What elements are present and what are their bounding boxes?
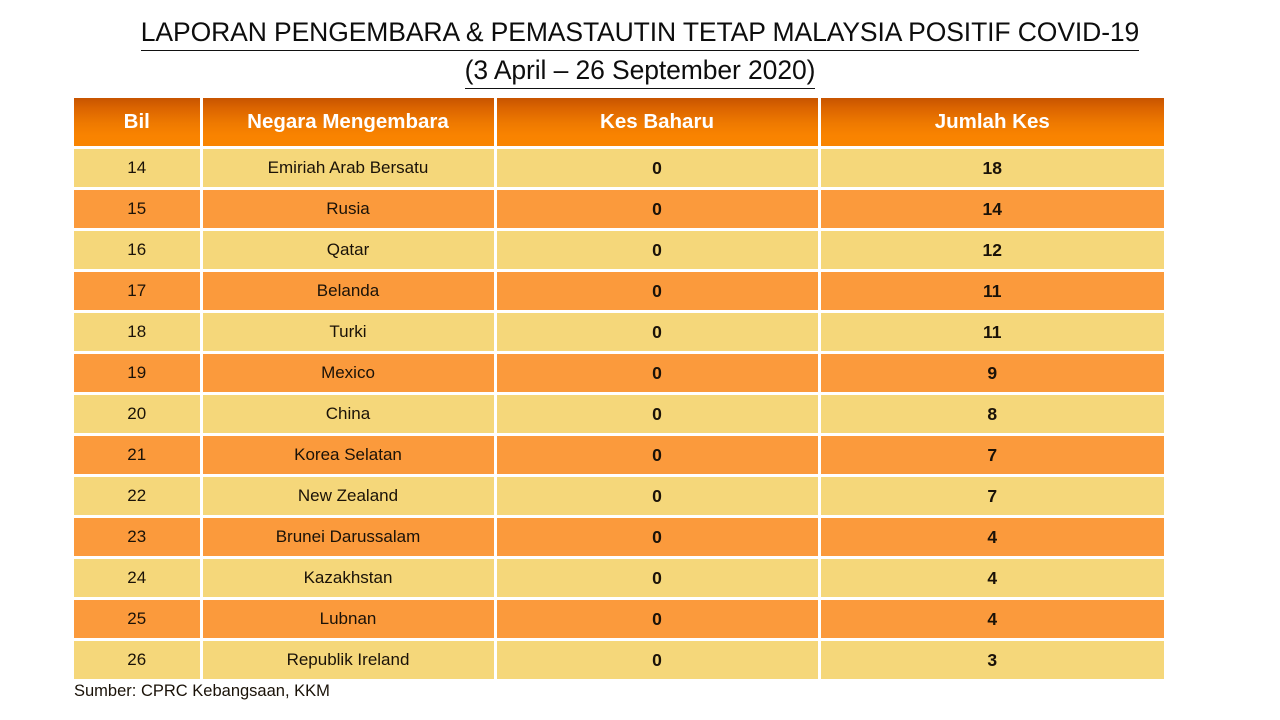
cell-jumlah-kes: 12: [819, 230, 1164, 271]
cell-negara: New Zealand: [201, 476, 495, 517]
cell-jumlah-kes: 7: [819, 435, 1164, 476]
cell-bil: 18: [74, 312, 201, 353]
traveller-cases-table: Bil Negara Mengembara Kes Baharu Jumlah …: [74, 98, 1164, 679]
cell-kes-baharu: 0: [495, 394, 819, 435]
cell-jumlah-kes: 9: [819, 353, 1164, 394]
table-row: 18Turki011: [74, 312, 1164, 353]
cell-kes-baharu: 0: [495, 271, 819, 312]
cell-bil: 16: [74, 230, 201, 271]
cell-negara: Kazakhstan: [201, 558, 495, 599]
cell-jumlah-kes: 11: [819, 312, 1164, 353]
cell-negara: Korea Selatan: [201, 435, 495, 476]
table-row: 15Rusia014: [74, 189, 1164, 230]
column-header-negara-mengembara: Negara Mengembara: [201, 98, 495, 148]
cell-negara: China: [201, 394, 495, 435]
cell-bil: 17: [74, 271, 201, 312]
cell-jumlah-kes: 4: [819, 558, 1164, 599]
table-row: 19Mexico09: [74, 353, 1164, 394]
table-row: 25Lubnan04: [74, 599, 1164, 640]
cell-bil: 14: [74, 148, 201, 189]
cell-jumlah-kes: 8: [819, 394, 1164, 435]
column-header-jumlah-kes: Jumlah Kes: [819, 98, 1164, 148]
cell-bil: 15: [74, 189, 201, 230]
title-line-daterange: (3 April – 26 September 2020): [465, 54, 816, 89]
cell-kes-baharu: 0: [495, 476, 819, 517]
cell-negara: Emiriah Arab Bersatu: [201, 148, 495, 189]
title-line-primary: LAPORAN PENGEMBARA & PEMASTAUTIN TETAP M…: [141, 16, 1139, 51]
cell-negara: Turki: [201, 312, 495, 353]
source-note: Sumber: CPRC Kebangsaan, KKM: [74, 682, 330, 701]
cell-bil: 19: [74, 353, 201, 394]
cell-bil: 24: [74, 558, 201, 599]
cell-jumlah-kes: 3: [819, 640, 1164, 680]
cell-kes-baharu: 0: [495, 353, 819, 394]
cell-jumlah-kes: 14: [819, 189, 1164, 230]
cell-bil: 26: [74, 640, 201, 680]
cell-kes-baharu: 0: [495, 148, 819, 189]
cell-kes-baharu: 0: [495, 230, 819, 271]
cell-jumlah-kes: 7: [819, 476, 1164, 517]
traveller-cases-table-wrapper: Bil Negara Mengembara Kes Baharu Jumlah …: [74, 98, 1164, 679]
cell-kes-baharu: 0: [495, 189, 819, 230]
cell-negara: Republik Ireland: [201, 640, 495, 680]
cell-jumlah-kes: 4: [819, 599, 1164, 640]
table-row: 16Qatar012: [74, 230, 1164, 271]
cell-bil: 20: [74, 394, 201, 435]
cell-bil: 22: [74, 476, 201, 517]
column-header-kes-baharu: Kes Baharu: [495, 98, 819, 148]
cell-bil: 23: [74, 517, 201, 558]
table-row: 14Emiriah Arab Bersatu018: [74, 148, 1164, 189]
table-row: 17Belanda011: [74, 271, 1164, 312]
cell-kes-baharu: 0: [495, 558, 819, 599]
table-header-row: Bil Negara Mengembara Kes Baharu Jumlah …: [74, 98, 1164, 148]
cell-jumlah-kes: 18: [819, 148, 1164, 189]
cell-bil: 21: [74, 435, 201, 476]
cell-jumlah-kes: 4: [819, 517, 1164, 558]
table-body: 14Emiriah Arab Bersatu01815Rusia01416Qat…: [74, 148, 1164, 680]
cell-negara: Rusia: [201, 189, 495, 230]
table-row: 26Republik Ireland03: [74, 640, 1164, 680]
table-row: 20China08: [74, 394, 1164, 435]
cell-kes-baharu: 0: [495, 517, 819, 558]
cell-kes-baharu: 0: [495, 312, 819, 353]
cell-negara: Mexico: [201, 353, 495, 394]
cell-negara: Lubnan: [201, 599, 495, 640]
cell-kes-baharu: 0: [495, 599, 819, 640]
table-row: 23Brunei Darussalam04: [74, 517, 1164, 558]
cell-negara: Brunei Darussalam: [201, 517, 495, 558]
page-title: LAPORAN PENGEMBARA & PEMASTAUTIN TETAP M…: [0, 16, 1280, 89]
table-row: 24Kazakhstan04: [74, 558, 1164, 599]
cell-negara: Belanda: [201, 271, 495, 312]
cell-negara: Qatar: [201, 230, 495, 271]
table-header: Bil Negara Mengembara Kes Baharu Jumlah …: [74, 98, 1164, 148]
cell-kes-baharu: 0: [495, 435, 819, 476]
cell-jumlah-kes: 11: [819, 271, 1164, 312]
table-row: 21Korea Selatan07: [74, 435, 1164, 476]
cell-bil: 25: [74, 599, 201, 640]
column-header-bil: Bil: [74, 98, 201, 148]
slide-page: LAPORAN PENGEMBARA & PEMASTAUTIN TETAP M…: [0, 0, 1280, 720]
table-row: 22New Zealand07: [74, 476, 1164, 517]
cell-kes-baharu: 0: [495, 640, 819, 680]
